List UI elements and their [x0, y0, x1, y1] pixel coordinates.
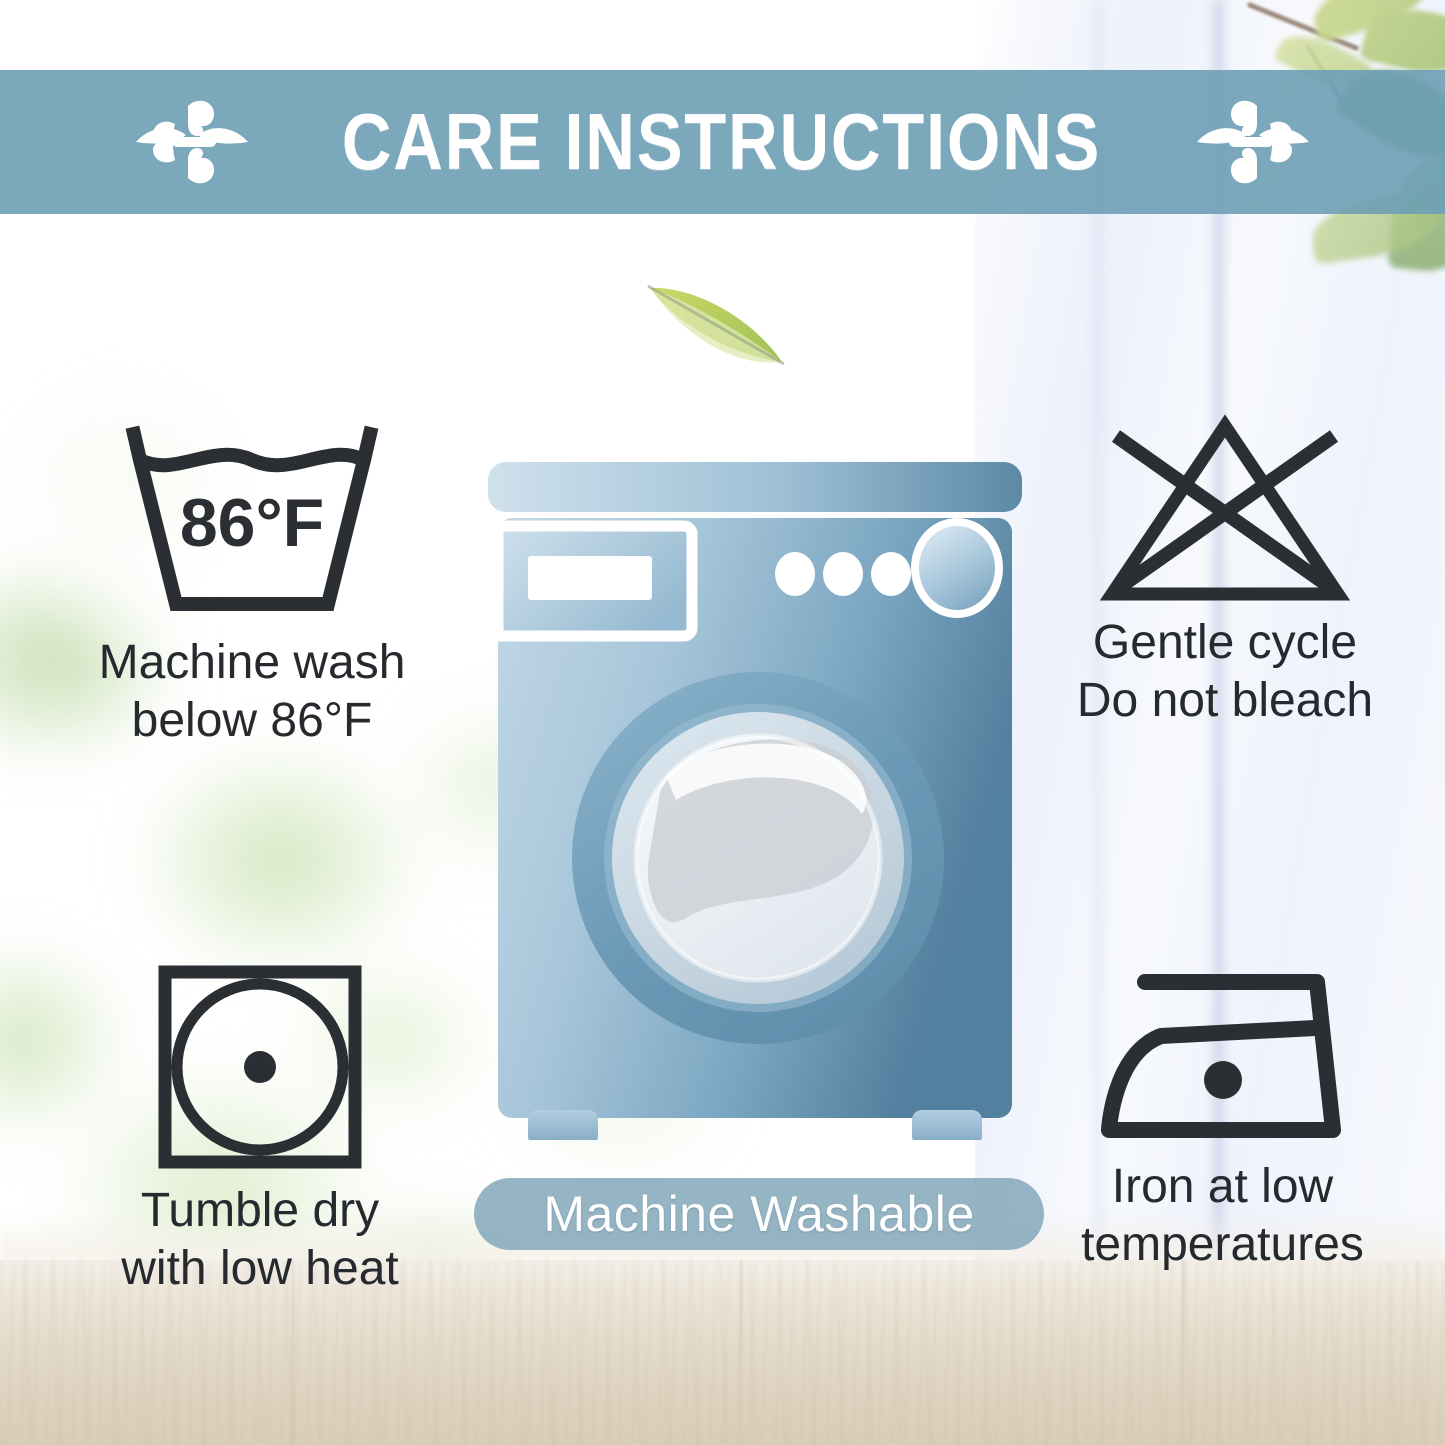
tumble-dry-low-icon	[155, 962, 365, 1172]
leaf-icon	[636, 272, 796, 376]
machine-washable-badge: Machine Washable	[474, 1178, 1044, 1250]
fleur-de-lis-icon	[128, 94, 256, 190]
wash-temperature-value: 86°F	[180, 485, 324, 561]
wash-basin-icon: 86°F	[114, 420, 390, 620]
fleur-de-lis-icon	[1189, 94, 1317, 190]
machine-detergent-drawer	[498, 526, 692, 636]
front-load-washing-machine-illustration	[470, 440, 1040, 1140]
machine-program-knob[interactable]	[911, 518, 1003, 618]
badge-label: Machine Washable	[543, 1185, 974, 1243]
background-wood-seam-2	[740, 1260, 742, 1445]
care-item-do-not-bleach: Gentle cycle Do not bleach	[1020, 408, 1430, 729]
background-wood-seam-3	[1182, 1260, 1184, 1445]
care-label-machine-wash: Machine wash below 86°F	[99, 634, 406, 749]
iron-one-dot-icon	[1089, 962, 1357, 1152]
machine-top-lid	[488, 462, 1022, 512]
machine-control-indicator-lights	[775, 552, 911, 596]
care-item-tumble-dry: Tumble dry with low heat	[60, 962, 460, 1297]
care-item-iron-low: Iron at low temperatures	[1015, 962, 1430, 1273]
care-label-iron-low: Iron at low temperatures	[1081, 1158, 1364, 1273]
care-label-tumble-dry: Tumble dry with low heat	[121, 1182, 398, 1297]
care-label-do-not-bleach: Gentle cycle Do not bleach	[1077, 614, 1373, 729]
machine-door[interactable]	[572, 672, 944, 1044]
header-banner: CARE INSTRUCTIONS	[0, 70, 1445, 214]
care-item-machine-wash: 86°F Machine wash below 86°F	[52, 420, 452, 749]
crossed-triangle-icon	[1094, 408, 1356, 608]
page-title: CARE INSTRUCTIONS	[342, 102, 1101, 182]
